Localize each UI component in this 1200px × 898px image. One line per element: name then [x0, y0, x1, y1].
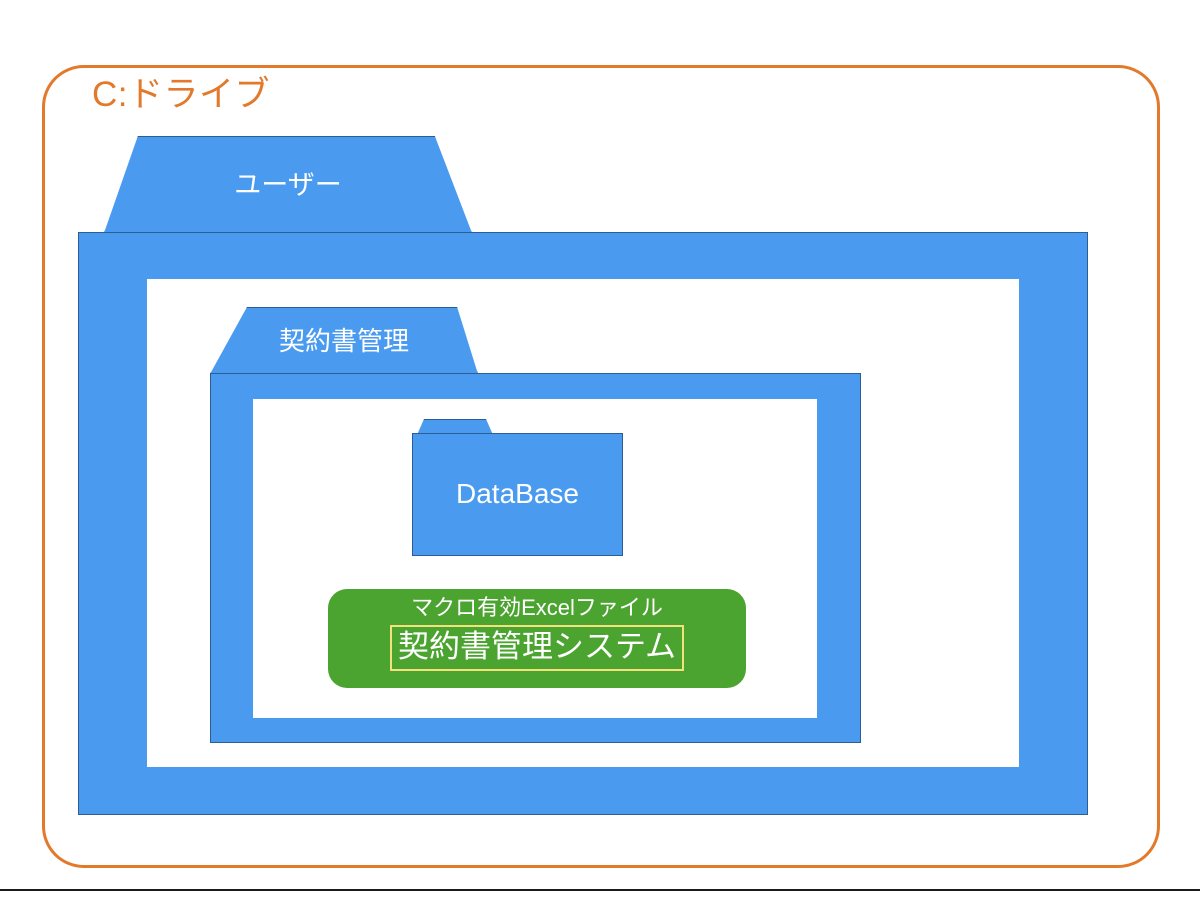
folder-label-database: DataBase — [456, 478, 579, 510]
diagram-canvas: C:ドライブ ユーザー 契約書管理 DataBase マクロ有効Excelファイ… — [0, 0, 1200, 898]
excel-macro-file: マクロ有効Excelファイル 契約書管理システム — [328, 589, 746, 688]
folder-label-keiyakusho-kanri: 契約書管理 — [279, 321, 409, 358]
slide-bottom-rule — [0, 889, 1200, 891]
folder-body-database: DataBase — [412, 433, 623, 556]
c-drive-label: C:ドライブ — [92, 74, 270, 116]
excel-file-name: 契約書管理システム — [390, 625, 684, 671]
folder-tab-keiyakusho-kanri: 契約書管理 — [210, 307, 478, 374]
folder-tab-user: ユーザー — [104, 136, 472, 233]
excel-file-caption: マクロ有効Excelファイル — [411, 593, 663, 623]
folder-label-user: ユーザー — [234, 163, 341, 202]
